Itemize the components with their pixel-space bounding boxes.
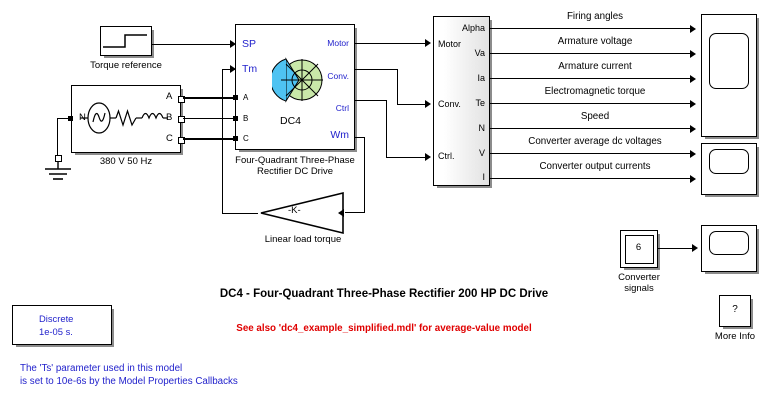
model-note-red: See also 'dc4_example_simplified.mdl' fo… [0,323,768,334]
dc4-port-Ctrl: Ctrl [336,103,349,113]
arrow-sig-2 [690,75,696,83]
scope-converter-signals[interactable] [701,225,757,272]
dc4-port-A: A [243,93,248,102]
wire-step-to-sp [152,44,234,45]
source-terminal-B: B [166,112,172,123]
wire-sig-3 [490,103,693,104]
dc4-inport-B [233,116,238,121]
wire-sig-4 [490,128,693,129]
wire-sig-1 [490,53,693,54]
wire-conv-seg1 [355,69,398,70]
bus-selector-block[interactable]: Motor Conv. Ctrl. Alpha Va Ia Te N V I [433,16,490,186]
bus-output-ia: Ia [477,73,485,83]
arrow-sig-4 [690,125,696,133]
source-terminal-N: N [79,112,86,123]
bus-output-alpha: Alpha [462,23,485,33]
wire-phase-c [183,138,235,139]
arrow-sig-6 [690,175,696,183]
model-note-blue-line2: is set to 10e-6s by the Model Properties… [20,375,238,389]
discrete-line2: 1e-05 s. [39,326,73,337]
arrow-bus-ctrl [425,153,431,161]
wire-sig-6 [490,178,693,179]
bus-output-va: Va [475,48,485,58]
dc4-inport-C [233,136,238,141]
powergui-discrete-block[interactable]: Discrete 1e-05 s. [12,305,112,345]
arrow-bus-motor [425,39,431,47]
wire-ground-horizontal [57,118,71,119]
wire-phase-b [183,118,235,119]
wire-phase-a [183,97,235,98]
wire-ctrl-seg3 [386,157,427,158]
wire-constant-to-scope [658,248,695,249]
arrow-sig-1 [690,50,696,58]
dc4-port-B: B [243,114,248,123]
source-terminal-C: C [166,133,173,144]
dc4-caption-line2: Rectifier DC Drive [225,166,365,177]
gain-caption: Linear load torque [238,234,368,245]
constant-caption-line1: Converter [594,272,684,283]
signal-label-6: Converter output currents [500,161,690,172]
model-title: DC4 - Four-Quadrant Three-Phase Rectifie… [0,288,768,300]
source-block-caption: 380 V 50 Hz [76,156,176,167]
wire-ground-vertical [57,118,58,158]
signal-label-4: Speed [505,111,685,122]
more-info-value: ? [720,304,750,315]
signal-label-2: Armature current [505,61,685,72]
wire-ctrl-seg1 [355,100,387,101]
arrow-bus-conv [425,100,431,108]
step-waveform-icon [101,27,149,53]
scope-screen [709,231,749,255]
wire-sig-2 [490,78,693,79]
dc4-port-Tm: Tm [242,63,257,75]
dc4-inport-A [233,95,238,100]
dc4-caption-line1: Four-Quadrant Three-Phase [225,155,365,166]
bus-output-te: Te [475,98,485,108]
bus-output-v: V [479,148,485,158]
dc4-port-SP: SP [242,38,256,50]
simulink-model-canvas: Torque reference N A B C 380 V 50 Hz [0,0,768,400]
wire-conv-seg3 [397,104,427,105]
arrow-sig-3 [690,100,696,108]
ground-icon [38,161,78,187]
arrow-sig-0 [690,25,696,33]
constant-value: 6 [625,242,652,253]
wire-gain-out-to-tm [222,213,258,214]
bus-input-motor: Motor [438,39,461,49]
ac-voltage-source-rl-icon [72,86,179,151]
bus-input-conv: Conv. [438,99,461,109]
signal-label-1: Armature voltage [505,36,685,47]
signal-label-3: Electromagnetic torque [500,86,690,97]
arrow-sig-5 [690,150,696,158]
arrow-gain-input [338,209,344,217]
dc4-port-Conv: Conv. [327,71,349,81]
wire-ctrl-seg2 [386,100,387,158]
dc4-drive-block[interactable]: SP Tm A B C Motor Conv. Ctrl Wm DC4 [235,24,355,150]
wire-motor [355,43,427,44]
signal-label-0: Firing angles [505,11,685,22]
dc4-port-C: C [243,134,249,143]
source-terminal-A: A [166,91,172,102]
step-block-caption: Torque reference [76,60,176,71]
dc4-port-Motor: Motor [327,38,349,48]
wire-sig-0 [490,28,693,29]
step-block[interactable] [100,26,152,56]
constant-block[interactable]: 6 [620,230,658,268]
three-phase-source-block[interactable]: N A B C [71,85,181,153]
gain-value: -K- [288,206,301,217]
wire-tm-vertical [222,69,223,214]
wire-tm-to-port [222,69,236,70]
dc4-port-Wm: Wm [330,129,349,141]
signal-label-5: Converter average dc voltages [495,136,695,147]
wire-wm-to-gain [345,212,365,213]
dc4-block-name: DC4 [280,115,301,127]
scope-motor-signals[interactable] [701,14,757,137]
dc-motor-drive-icon [272,56,326,108]
bus-input-ctrl: Ctrl. [438,151,455,161]
arrow-constant-scope [692,244,698,252]
scope-screen [709,33,749,89]
wire-wm-vertical [364,137,365,213]
discrete-line1: Discrete [39,313,73,324]
scope-converter-voltages[interactable] [701,143,757,195]
scope-screen [709,149,749,174]
wire-wm-from-port [355,137,365,138]
bus-output-n: N [479,123,486,133]
wire-conv-seg2 [397,69,398,105]
wire-sig-5 [490,153,693,154]
gain-block[interactable] [257,191,347,235]
bus-output-i: I [482,172,485,182]
